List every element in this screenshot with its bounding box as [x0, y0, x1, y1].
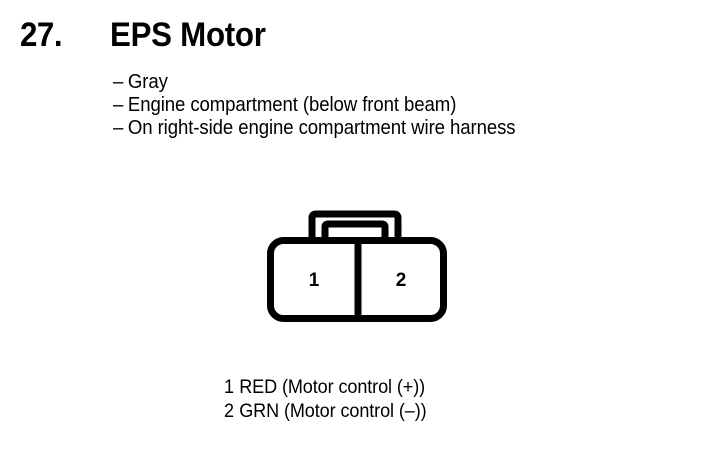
- legend-pin-number: 1: [224, 376, 239, 400]
- legend-pin-text: GRN (Motor control (–)): [239, 401, 426, 422]
- notes-list: –Gray –Engine compartment (below front b…: [113, 71, 693, 140]
- legend-pin-number: 2: [224, 400, 239, 424]
- dash-bullet: –: [113, 71, 128, 94]
- note-item: –Gray: [113, 71, 652, 94]
- note-text: On right-side engine compartment wire ha…: [128, 117, 516, 139]
- legend-row: 2GRN (Motor control (–)): [224, 400, 604, 424]
- dash-bullet: –: [113, 94, 128, 117]
- page-title: EPS Motor: [110, 14, 266, 56]
- item-number: 27.: [20, 14, 62, 56]
- legend-row: 1RED (Motor control (+)): [224, 376, 604, 400]
- legend-pin-text: RED (Motor control (+)): [239, 377, 425, 398]
- connector-diagram: 1 2: [255, 205, 455, 330]
- page-header: 27. EPS Motor: [0, 14, 704, 60]
- cavity-number-1: 1: [309, 270, 320, 291]
- note-item: –On right-side engine compartment wire h…: [113, 117, 652, 140]
- cavity-number-2: 2: [396, 270, 407, 291]
- connector-drawing: 1 2: [255, 205, 455, 330]
- note-text: Engine compartment (below front beam): [128, 94, 456, 116]
- document-page: 27. EPS Motor –Gray –Engine compartment …: [0, 0, 704, 456]
- pin-legend: 1RED (Motor control (+)) 2GRN (Motor con…: [224, 376, 624, 424]
- note-text: Gray: [128, 71, 168, 93]
- dash-bullet: –: [113, 117, 128, 140]
- note-item: –Engine compartment (below front beam): [113, 94, 652, 117]
